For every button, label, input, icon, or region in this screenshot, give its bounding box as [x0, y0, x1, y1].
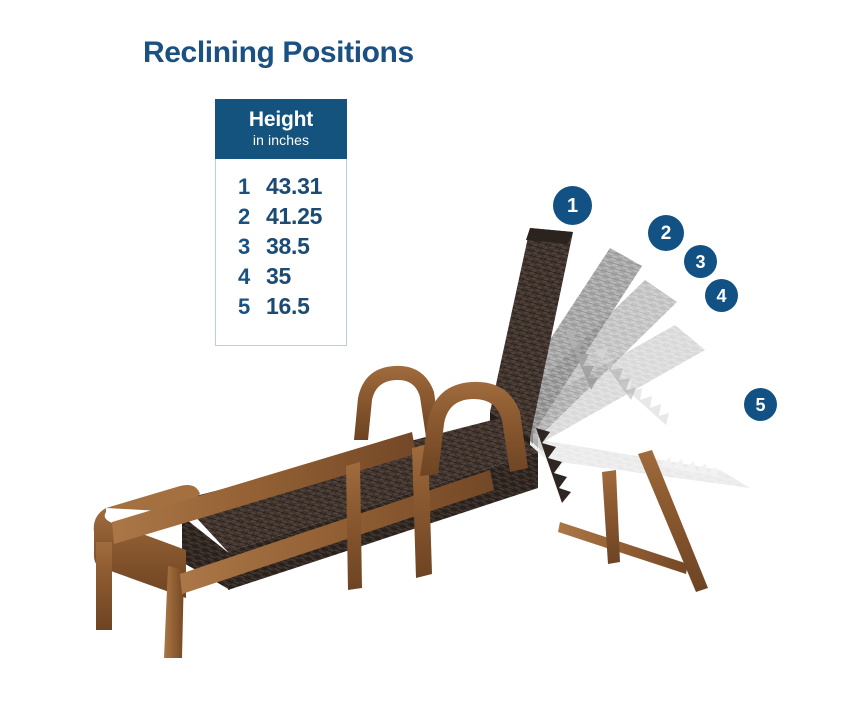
chair-rear-brace — [558, 522, 688, 574]
chair-rear-leg-inner — [602, 470, 620, 564]
chair-ratchet-mechanism — [536, 428, 571, 503]
position-badge-1[interactable]: 1 — [553, 186, 592, 225]
height-table-header: Height in inches — [215, 99, 347, 159]
position-badge-2[interactable]: 2 — [648, 215, 684, 251]
position-badge-3[interactable]: 3 — [684, 245, 717, 278]
chair-mid-leg-left — [346, 462, 362, 590]
page-title: Reclining Positions — [143, 36, 414, 70]
chair-foot-leg-left — [96, 542, 112, 630]
infographic-page: Reclining Positions Height in inches 1 4… — [0, 0, 852, 714]
position-badge-4[interactable]: 4 — [705, 279, 738, 312]
height-table-header-title: Height — [215, 109, 347, 131]
height-table-header-subtitle: in inches — [215, 131, 347, 149]
position-badge-5[interactable]: 5 — [744, 388, 777, 421]
